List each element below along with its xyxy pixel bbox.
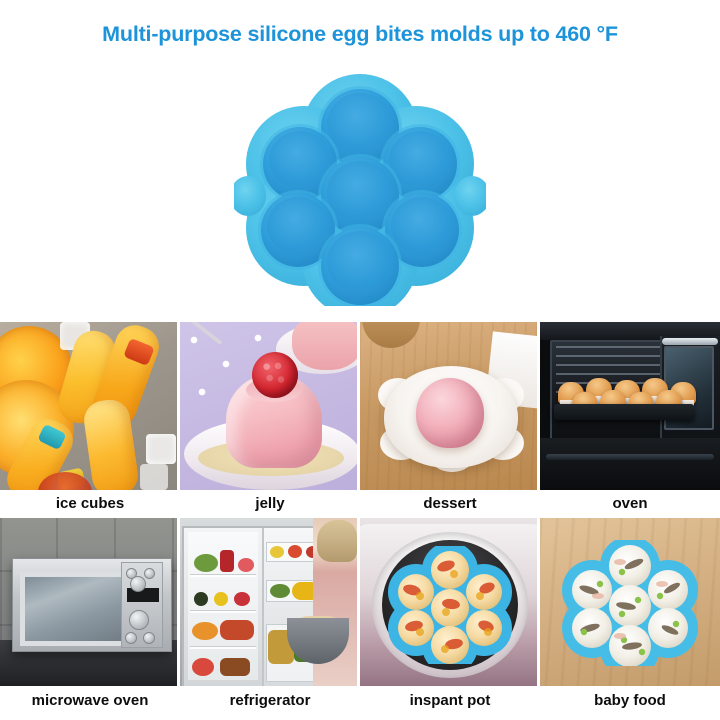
oven-scene (540, 322, 720, 490)
use-case-photo-oven (540, 322, 720, 490)
page-title: Multi-purpose silicone egg bites molds u… (0, 22, 720, 47)
baby-food-scene (540, 518, 720, 686)
use-case-row-1 (0, 322, 720, 490)
label-jelly: jelly (180, 490, 360, 518)
ice-cubes-scene (0, 322, 177, 490)
label-baby-food: baby food (540, 686, 720, 720)
use-case-photo-baby-food (540, 518, 720, 686)
silicone-mold-illustration (234, 70, 486, 306)
mold-with-baby-food (562, 540, 698, 666)
use-case-photo-jelly (180, 322, 357, 490)
label-oven: oven (540, 490, 720, 518)
label-instant-pot: inspant pot (360, 686, 540, 720)
mold-in-pot-svg (388, 546, 512, 664)
use-case-photo-ice-cubes (0, 322, 177, 490)
label-refrigerator: refrigerator (180, 686, 360, 720)
hero-product-image (0, 62, 720, 314)
use-case-labels-row-1: ice cubes jelly dessert oven (0, 490, 720, 518)
mold-svg (234, 70, 486, 306)
mold-in-pot (388, 546, 512, 664)
use-case-photo-microwave-oven (0, 518, 177, 686)
label-dessert: dessert (360, 490, 540, 518)
instant-pot-scene (360, 518, 537, 686)
label-ice-cubes: ice cubes (0, 490, 180, 518)
dessert-scene (360, 322, 537, 490)
use-case-grid: ice cubes jelly dessert oven (0, 322, 720, 720)
infographic-page: Multi-purpose silicone egg bites molds u… (0, 0, 720, 720)
label-microwave-oven: microwave oven (0, 686, 180, 720)
use-case-row-2 (0, 518, 720, 686)
refrigerator-scene (180, 518, 357, 686)
use-case-photo-dessert (360, 322, 537, 490)
use-case-photo-refrigerator (180, 518, 357, 686)
mold-baby-food-svg (562, 540, 698, 666)
use-case-labels-row-2: microwave oven refrigerator inspant pot … (0, 686, 720, 720)
use-case-photo-instant-pot (360, 518, 537, 686)
jelly-scene (180, 322, 357, 490)
microwave-scene (0, 518, 177, 686)
